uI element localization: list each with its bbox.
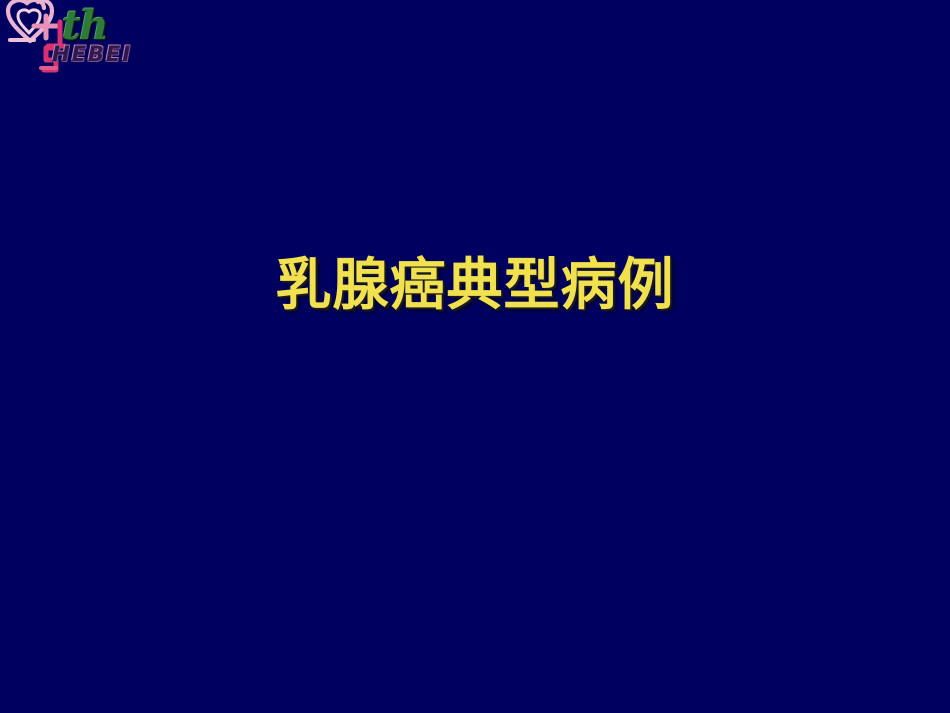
logo-script-text: th (62, 6, 108, 46)
page-title: 乳腺癌典型病例 (276, 255, 675, 317)
presentation-slide: th HEBEI 乳腺癌典型病例 (0, 0, 950, 713)
slide-title-block: 乳腺癌典型病例 (0, 255, 950, 317)
hebei-conference-logo: th HEBEI (0, 0, 152, 80)
logo-wordmark-text: HEBEI (52, 44, 132, 65)
